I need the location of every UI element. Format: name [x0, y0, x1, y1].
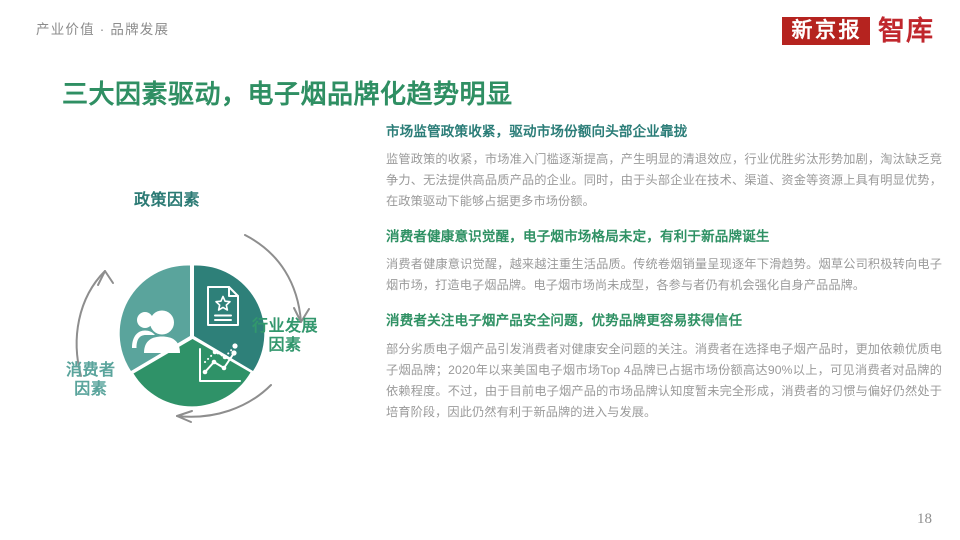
diagram-label-industry: 行业发展 因素: [252, 318, 318, 356]
block-heading: 消费者健康意识觉醒，电子烟市场格局未定，有利于新品牌诞生: [386, 227, 942, 247]
diagram-label-industry-line2: 因素: [252, 337, 318, 356]
page-number: 18: [917, 511, 932, 528]
content-block: 消费者关注电子烟产品安全问题，优势品牌更容易获得信任 部分劣质电子烟产品引发消费…: [386, 311, 942, 422]
slide-kicker: 产业价值 · 品牌发展: [36, 18, 169, 38]
content-block: 消费者健康意识觉醒，电子烟市场格局未定，有利于新品牌诞生 消费者健康意识觉醒，越…: [386, 227, 942, 296]
diagram-label-policy: 政策因素: [134, 192, 200, 211]
diagram-label-consumer-line1: 消费者: [66, 362, 116, 381]
content-column: 市场监管政策收紧，驱动市场份额向头部企业靠拢 监管政策的收紧，市场准入门槛逐渐提…: [386, 122, 942, 423]
slide-root: 产业价值 · 品牌发展 新京报 智库 三大因素驱动，电子烟品牌化趋势明显: [0, 0, 960, 540]
content-block: 市场监管政策收紧，驱动市场份额向头部企业靠拢 监管政策的收紧，市场准入门槛逐渐提…: [386, 122, 942, 212]
logo-brand-box: 新京报: [782, 17, 871, 45]
block-body: 监管政策的收紧，市场准入门槛逐渐提高，产生明显的清退效应，行业优胜劣汰形势加剧，…: [386, 149, 942, 212]
diagram-label-consumer: 消费者 因素: [66, 362, 116, 400]
three-factor-cycle-diagram: 政策因素 行业发展 因素 消费者 因素: [48, 176, 364, 444]
block-body: 部分劣质电子烟产品引发消费者对健康安全问题的关注。消费者在选择电子烟产品时，更加…: [386, 339, 942, 423]
page-title: 三大因素驱动，电子烟品牌化趋势明显: [62, 74, 513, 111]
block-heading: 消费者关注电子烟产品安全问题，优势品牌更容易获得信任: [386, 311, 942, 331]
arrow-left-head: [98, 271, 113, 285]
block-body: 消费者健康意识觉醒，越来越注重生活品质。传统卷烟销量呈现逐年下滑趋势。烟草公司积…: [386, 254, 942, 296]
xinjingbao-think-tank-logo: 新京报 智库: [782, 16, 935, 46]
arrow-left-arc: [77, 271, 105, 376]
block-heading: 市场监管政策收紧，驱动市场份额向头部企业靠拢: [386, 122, 942, 142]
diagram-label-consumer-line2: 因素: [66, 381, 116, 400]
cycle-diagram-svg: [48, 176, 364, 444]
logo-brand-word: 智库: [878, 18, 934, 45]
diagram-label-industry-line1: 行业发展: [252, 318, 318, 337]
